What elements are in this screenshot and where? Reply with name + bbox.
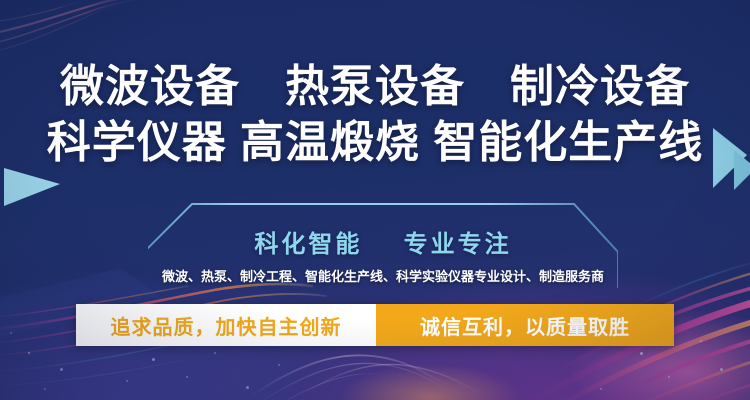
headline-line-1: 微波设备 热泵设备 制冷设备 — [60, 62, 690, 111]
bottom-bar-right-text: 诚信互利，以质量取胜 — [376, 304, 674, 346]
slogan-cyan: 科化智能 专业专注 — [148, 224, 618, 259]
bottom-slogan-bar: 追求品质，加快自主创新 诚信互利，以质量取胜 — [76, 304, 674, 346]
slogan-cyan-left: 科化智能 — [254, 231, 362, 258]
headline-line-2: 科学仪器 高温煅烧 智能化生产线 — [0, 118, 750, 168]
headline: 微波设备 热泵设备 制冷设备 科学仪器 高温煅烧 智能化生产线 — [0, 62, 750, 168]
slogan-subtitle: 微波、热泵、制冷工程、智能化生产线、科学实验仪器专业设计、制造服务商 — [148, 266, 618, 285]
slogan-cyan-right: 专业专注 — [404, 231, 512, 258]
left-arrow-icon — [4, 168, 60, 206]
bottom-bar-left-text: 追求品质，加快自主创新 — [76, 304, 376, 346]
promotional-banner: 微波设备 热泵设备 制冷设备 科学仪器 高温煅烧 智能化生产线 科化智能 专业专… — [0, 0, 750, 400]
